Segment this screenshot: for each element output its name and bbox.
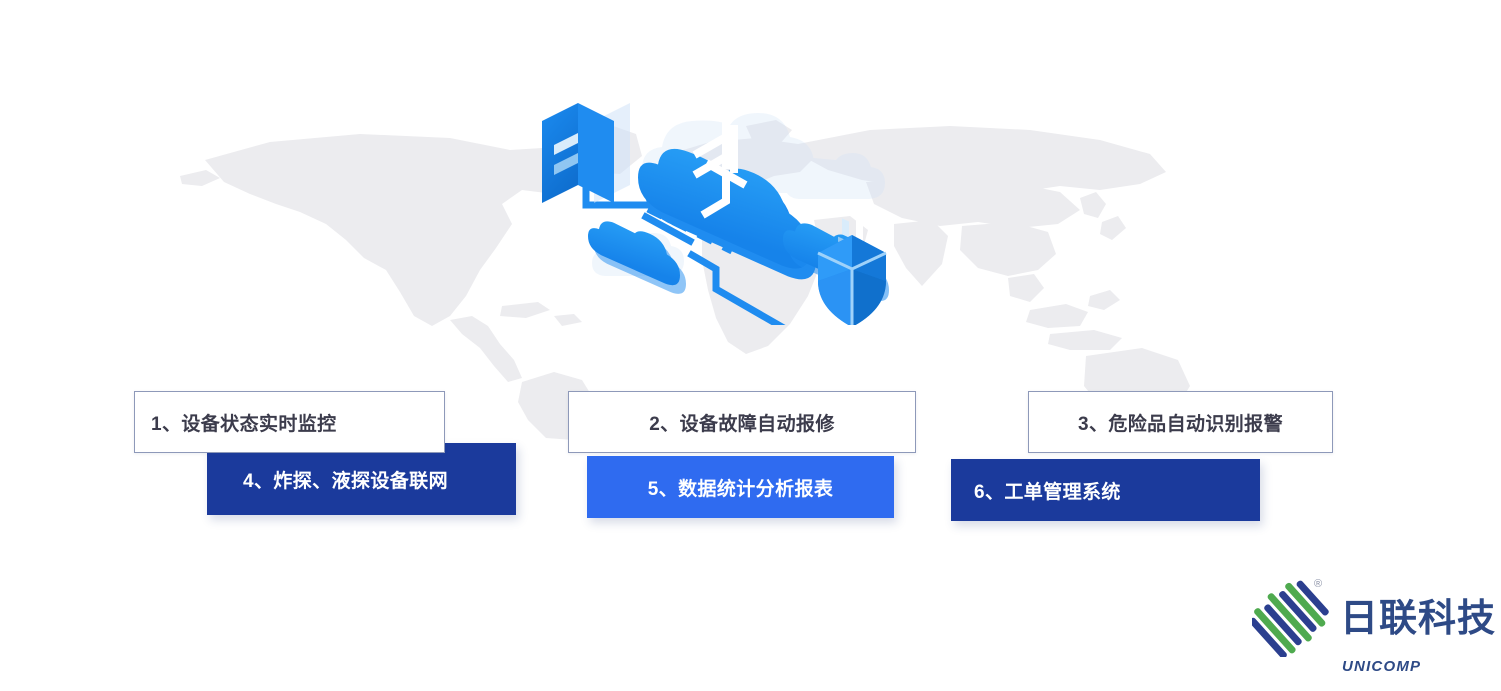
logo-chinese-name: 日联科技 <box>1340 600 1496 638</box>
feature-card-2[interactable]: 2、设备故障自动报修 <box>568 391 916 453</box>
registered-trademark-icon: ® <box>1314 578 1322 590</box>
feature-card-3[interactable]: 3、危险品自动识别报警 <box>1028 391 1333 453</box>
cloud-network-illustration <box>520 45 940 325</box>
feature-card-6[interactable]: 6、工单管理系统 <box>951 459 1260 521</box>
logo-text-block: ® 日联科技 UNICOMP <box>1340 598 1496 638</box>
slide-canvas: 1、设备状态实时监控 4、炸探、液探设备联网 2、设备故障自动报修 5、数据统计… <box>0 0 1501 691</box>
feature-card-1[interactable]: 1、设备状态实时监控 <box>134 391 445 453</box>
feature-card-6-label: 6、工单管理系统 <box>974 477 1121 504</box>
feature-card-4-label: 4、炸探、液探设备联网 <box>243 466 448 493</box>
logo-english-name: UNICOMP <box>1342 658 1421 675</box>
feature-card-5-label: 5、数据统计分析报表 <box>648 474 834 501</box>
company-logo: ® 日联科技 UNICOMP <box>1252 572 1467 664</box>
shield-cube-icon <box>818 235 886 325</box>
feature-card-4[interactable]: 4、炸探、液探设备联网 <box>207 443 516 515</box>
feature-card-5[interactable]: 5、数据统计分析报表 <box>587 456 894 518</box>
feature-card-3-label: 3、危险品自动识别报警 <box>1078 409 1283 436</box>
unicomp-mark-icon <box>1252 579 1338 657</box>
feature-card-1-label: 1、设备状态实时监控 <box>151 409 337 436</box>
feature-card-2-label: 2、设备故障自动报修 <box>649 409 835 436</box>
